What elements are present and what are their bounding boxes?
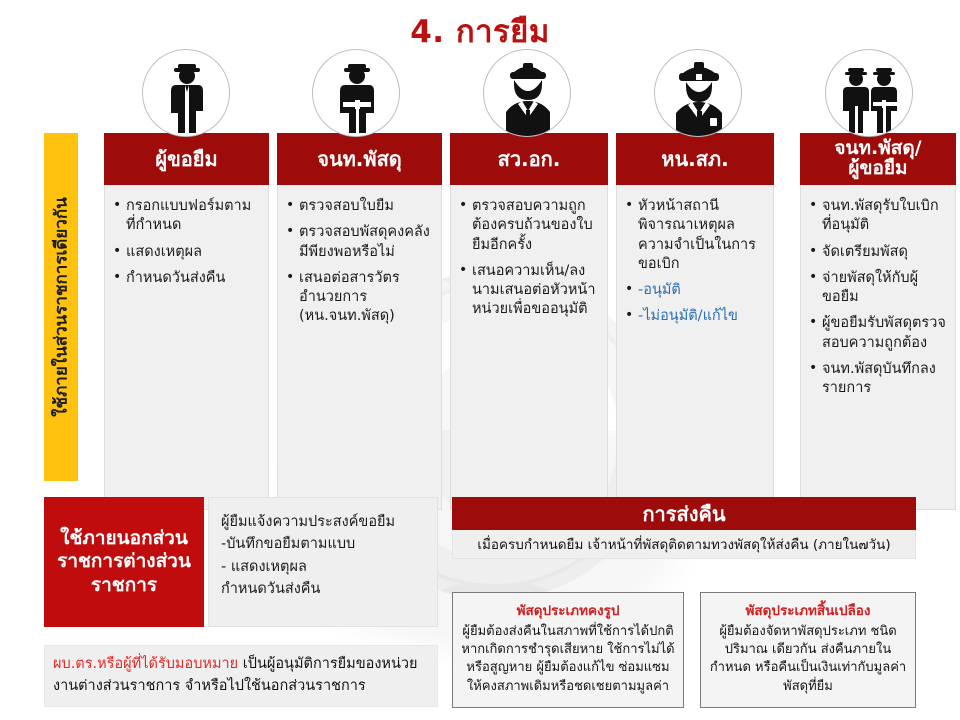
flow-column-4-list: หัวหน้าสถานีพิจารณาเหตุผลความจำเป็นในการ… <box>623 197 765 327</box>
list-item: เสนอความเห็น/ลงนามเสนอต่อหัวหน้าหน่วยเพื… <box>457 262 599 320</box>
police-officer-bust-icon <box>483 49 571 137</box>
list-item: กรอกแบบฟอร์มตามที่กำหนด <box>111 197 260 236</box>
flow-column-1-body: กรอกแบบฟอร์มตามที่กำหนด แสดงเหตุผล กำหนด… <box>104 185 269 510</box>
flow-column-5-list: จนท.พัสดุรับใบเบิกที่อนุมัติ จัดเตรียมพั… <box>807 197 947 399</box>
list-item: แสดงเหตุผล <box>111 243 260 262</box>
list-item: จัดเตรียมพัสดุ <box>807 243 947 262</box>
durable-goods-text: ผู้ยืมต้องส่งคืนในสภาพที่ใช้การได้ปกติ ห… <box>461 623 675 696</box>
list-item: ตรวจสอบใบยืม <box>284 197 433 216</box>
list-item-reject: -ไม่อนุมัติ/แก้ไข <box>623 307 765 326</box>
flow-column-5: จนท.พัสดุ/ ผู้ขอยืม จนท.พัสดุรับใบเบิกที… <box>800 133 956 510</box>
flow-column-4-header: หน.สภ. <box>616 133 774 185</box>
flow-column-5-header: จนท.พัสดุ/ ผู้ขอยืม <box>800 133 956 185</box>
list-item: จนท.พัสดุรับใบเบิกที่อนุมัติ <box>807 197 947 236</box>
return-section: การส่งคืน เมื่อครบกำหนดยืม เจ้าหน้าที่พั… <box>452 497 916 559</box>
flow-column-3-header: สว.อก. <box>450 133 608 185</box>
list-item: ผู้ขอยืมรับพัสดุตรวจสอบความถูกต้อง <box>807 314 947 353</box>
page-title: 4. การยืม <box>0 6 960 56</box>
list-item: ตรวจสอบพัสดุคงคลังมีพียงพอหรือไม่ <box>284 223 433 262</box>
flow-column-3-body: ตรวจสอบความถูกต้องครบถ้วนของใบยืมอีกครั้… <box>450 185 608 510</box>
process-flow: ผู้ขอยืม กรอกแบบฟอร์มตามที่กำหนด แสดงเหต… <box>0 0 960 500</box>
return-section-header: การส่งคืน <box>452 497 916 530</box>
durable-goods-box: พัสดุประเภทคงรูป ผู้ยืมต้องส่งคืนในสภาพท… <box>452 592 684 708</box>
external-note-line-2: -บันทึกขอยืมตามแบบ <box>221 533 427 555</box>
external-note-line-1: ผู้ยืมแจ้งความประสงค์ขอยืม <box>221 511 427 533</box>
external-use-note: ผู้ยืมแจ้งความประสงค์ขอยืม -บันทึกขอยืมต… <box>208 497 438 627</box>
flow-column-1-header: ผู้ขอยืม <box>104 133 269 185</box>
flow-column-5-body: จนท.พัสดุรับใบเบิกที่อนุมัติ จัดเตรียมพั… <box>800 185 956 510</box>
external-note-line-4: กำหนดวันส่งคืน <box>221 578 427 600</box>
list-item: ตรวจสอบความถูกต้องครบถ้วนของใบยืมอีกครั้… <box>457 197 599 255</box>
flow-column-2: จนท.พัสดุ ตรวจสอบใบยืม ตรวจสอบพัสดุคงคลั… <box>277 133 442 510</box>
durable-goods-title: พัสดุประเภทคงรูป <box>461 599 675 621</box>
flow-column-2-list: ตรวจสอบใบยืม ตรวจสอบพัสดุคงคลังมีพียงพอห… <box>284 197 433 327</box>
external-note-line-3: - แสดงเหตุผล <box>221 556 427 578</box>
flow-column-2-header: จนท.พัสดุ <box>277 133 442 185</box>
internal-use-vertical-label-text: ใช้ภายในส่วนราชการเดียวกัน <box>48 197 75 416</box>
return-section-subtitle: เมื่อครบกำหนดยืม เจ้าหน้าที่พัสดุติดตามท… <box>452 530 916 559</box>
consumable-goods-text: ผู้ยืมต้องจัดหาพัสดุประเภท ชนิด ปริมาณ เ… <box>709 623 907 696</box>
flow-column-4: หน.สภ. หัวหน้าสถานีพิจารณาเหตุผลความจำเป… <box>616 133 774 510</box>
internal-use-vertical-label: ใช้ภายในส่วนราชการเดียวกัน <box>44 133 78 481</box>
flow-column-3: สว.อก. ตรวจสอบความถูกต้องครบถ้วนของใบยืม… <box>450 133 608 510</box>
police-chief-bust-icon <box>654 49 742 137</box>
list-item: เสนอต่อสารวัตรอำนวยการ (หน.จนท.พัสดุ) <box>284 269 433 327</box>
flow-column-4-body: หัวหน้าสถานีพิจารณาเหตุผลความจำเป็นในการ… <box>616 185 774 510</box>
list-item: กำหนดวันส่งคืน <box>111 269 260 288</box>
flow-column-3-list: ตรวจสอบความถูกต้องครบถ้วนของใบยืมอีกครั้… <box>457 197 599 320</box>
flow-column-1: ผู้ขอยืม กรอกแบบฟอร์มตามที่กำหนด แสดงเหต… <box>104 133 269 510</box>
two-police-officers-icon <box>825 49 913 137</box>
approval-authority-highlight: ผบ.ตร.หรือผู้ที่ได้รับมอบหมาย <box>53 656 238 672</box>
consumable-goods-box: พัสดุประเภทสิ้นเปลือง ผู้ยืมต้องจัดหาพัส… <box>700 592 916 708</box>
list-item: หัวหน้าสถานีพิจารณาเหตุผลความจำเป็นในการ… <box>623 197 765 274</box>
approval-authority-note: ผบ.ตร.หรือผู้ที่ได้รับมอบหมาย เป็นผู้อนุ… <box>44 645 438 707</box>
consumable-goods-title: พัสดุประเภทสิ้นเปลือง <box>709 599 907 621</box>
list-item: จนท.พัสดุบันทึกลงรายการ <box>807 360 947 399</box>
flow-column-2-body: ตรวจสอบใบยืม ตรวจสอบพัสดุคงคลังมีพียงพอห… <box>277 185 442 510</box>
police-officer-belt-icon <box>312 49 400 137</box>
flow-column-1-list: กรอกแบบฟอร์มตามที่กำหนด แสดงเหตุผล กำหนด… <box>111 197 260 288</box>
police-officer-standing-icon <box>142 49 230 137</box>
list-item-approve: -อนุมัติ <box>623 281 765 300</box>
external-use-red-box: ใช้ภายนอกส่วนราชการต่างส่วนราชการ <box>44 497 204 627</box>
list-item: จ่ายพัสดุให้กับผู้ขอยืม <box>807 269 947 308</box>
